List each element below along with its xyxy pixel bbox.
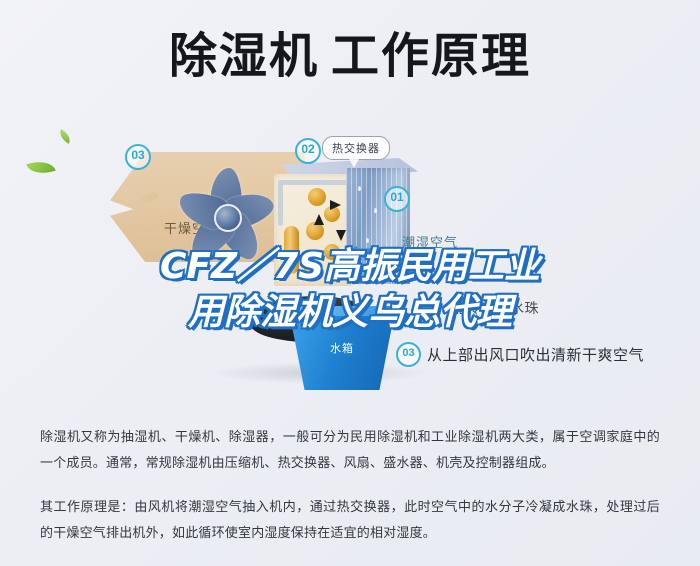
water-tank-label: 水箱 bbox=[330, 340, 354, 356]
caption-03-text: 从上部出风口吹出清新干爽空气 bbox=[427, 344, 644, 365]
heat-exchanger-callout: 热交换器 bbox=[322, 136, 390, 160]
leaf-icon bbox=[26, 156, 55, 178]
paragraph-2: 其工作原理是：由风机将潮湿空气抽入机内，通过热交换器，此时空气中的水分子冷凝成水… bbox=[40, 495, 660, 547]
badge-01-humid-air: 01 bbox=[384, 186, 410, 212]
description-block: 除湿机又称为抽湿机、干燥机、除湿器，一般可分为民用除湿机和工业除湿机两大类，属于… bbox=[0, 412, 700, 560]
badge-03-dry-air: 03 bbox=[125, 144, 151, 170]
poster-root: 除湿机工作原理 干燥空气 bbox=[0, 0, 700, 566]
dehumidifier-diagram: 干燥空气 bbox=[0, 110, 700, 410]
badge-02-heat-exchanger: 02 bbox=[295, 138, 321, 164]
condensation-droplet bbox=[358, 186, 361, 191]
title-part-b: 工作原理 bbox=[331, 28, 531, 84]
fan-icon bbox=[172, 162, 280, 270]
background-text-fragment: 器冷凝成水珠 bbox=[452, 298, 539, 318]
flow-arrow-up-icon bbox=[314, 214, 324, 225]
coil-loop bbox=[304, 260, 322, 278]
leaf-icon bbox=[57, 129, 74, 144]
caption-03: 03 从上部出风口吹出清新干爽空气 bbox=[396, 342, 644, 367]
title-text: 除湿机工作原理 bbox=[169, 28, 531, 84]
coil-loop bbox=[308, 188, 326, 206]
refrigerant-pipe bbox=[278, 180, 348, 185]
humid-air-label: 潮湿空气 bbox=[402, 232, 458, 251]
water-tank: 水箱 bbox=[290, 306, 394, 390]
paragraph-1: 除湿机又称为抽湿机、干燥机、除湿器，一般可分为民用除湿机和工业除湿机两大类，属于… bbox=[40, 425, 660, 477]
flow-arrow-right-icon bbox=[330, 200, 341, 210]
page-title: 除湿机工作原理 bbox=[0, 28, 700, 84]
condensation-droplet bbox=[366, 238, 369, 243]
badge-03-caption: 03 bbox=[396, 342, 421, 367]
title-part-a: 除湿机 bbox=[169, 28, 319, 84]
refrigerant-pipe bbox=[278, 180, 283, 226]
coil-loop bbox=[324, 244, 340, 260]
compressor-cylinder bbox=[284, 226, 299, 274]
flow-arrow-down-icon bbox=[336, 230, 346, 241]
fan-hub bbox=[214, 204, 242, 232]
compressor-coil-block bbox=[274, 174, 352, 286]
